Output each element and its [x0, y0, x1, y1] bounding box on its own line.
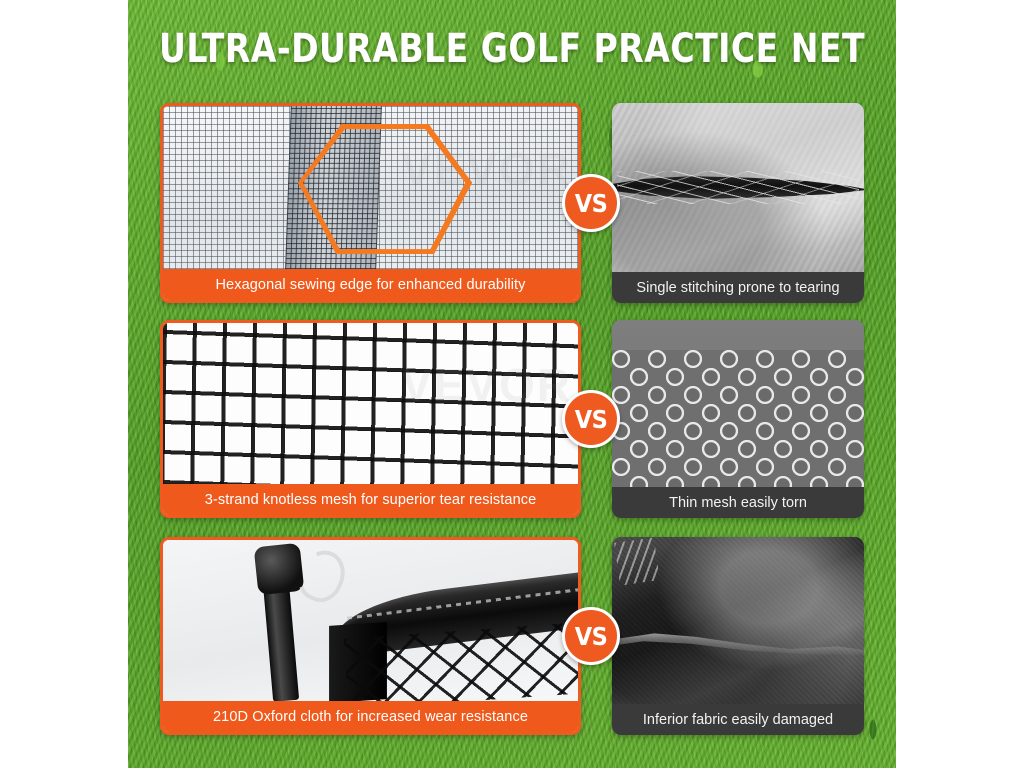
good-caption: 3-strand knotless mesh for superior tear… — [163, 484, 578, 515]
good-product-photo — [163, 540, 578, 701]
bad-product-photo — [612, 103, 864, 272]
vs-badge: VS — [562, 607, 620, 665]
vs-badge: VS — [562, 390, 620, 448]
good-product-card[interactable]: 210D Oxford cloth for increased wear res… — [160, 537, 581, 735]
page-title: ULTRA-DURABLE GOLF PRACTICE NET — [159, 26, 866, 72]
good-caption: Hexagonal sewing edge for enhanced durab… — [163, 269, 578, 300]
bad-product-photo — [612, 537, 864, 704]
pole-connector-shape — [254, 543, 305, 596]
bad-caption: Thin mesh easily torn — [612, 487, 864, 518]
bad-product-card[interactable]: Single stitching prone to tearing — [612, 103, 864, 303]
fabric-seam-shape — [614, 538, 660, 587]
bad-product-photo — [612, 320, 864, 487]
bad-product-card[interactable]: Thin mesh easily torn — [612, 320, 864, 518]
loose-threads-shape — [617, 171, 859, 205]
honeycomb-mesh-texture — [612, 320, 864, 487]
bad-caption: Single stitching prone to tearing — [612, 272, 864, 303]
comparison-row: VEVOR Hexagonal sewing edge for enhanced… — [0, 103, 1024, 303]
comparison-row: VEVOR 3-strand knotless mesh for superio… — [0, 320, 1024, 518]
comparison-row: 210D Oxford cloth for increased wear res… — [0, 537, 1024, 735]
vs-badge: VS — [562, 174, 620, 232]
knotless-mesh-texture — [163, 323, 578, 484]
good-caption: 210D Oxford cloth for increased wear res… — [163, 701, 578, 732]
good-product-card[interactable]: VEVOR Hexagonal sewing edge for enhanced… — [160, 103, 581, 303]
good-product-card[interactable]: VEVOR 3-strand knotless mesh for superio… — [160, 320, 581, 518]
bad-caption: Inferior fabric easily damaged — [612, 704, 864, 735]
bad-product-card[interactable]: Inferior fabric easily damaged — [612, 537, 864, 735]
infographic-page: ULTRA-DURABLE GOLF PRACTICE NET VEVOR He… — [0, 0, 1024, 768]
good-product-photo: VEVOR — [163, 106, 578, 269]
good-product-photo: VEVOR — [163, 323, 578, 484]
honeycomb-holes-shape — [612, 350, 864, 487]
